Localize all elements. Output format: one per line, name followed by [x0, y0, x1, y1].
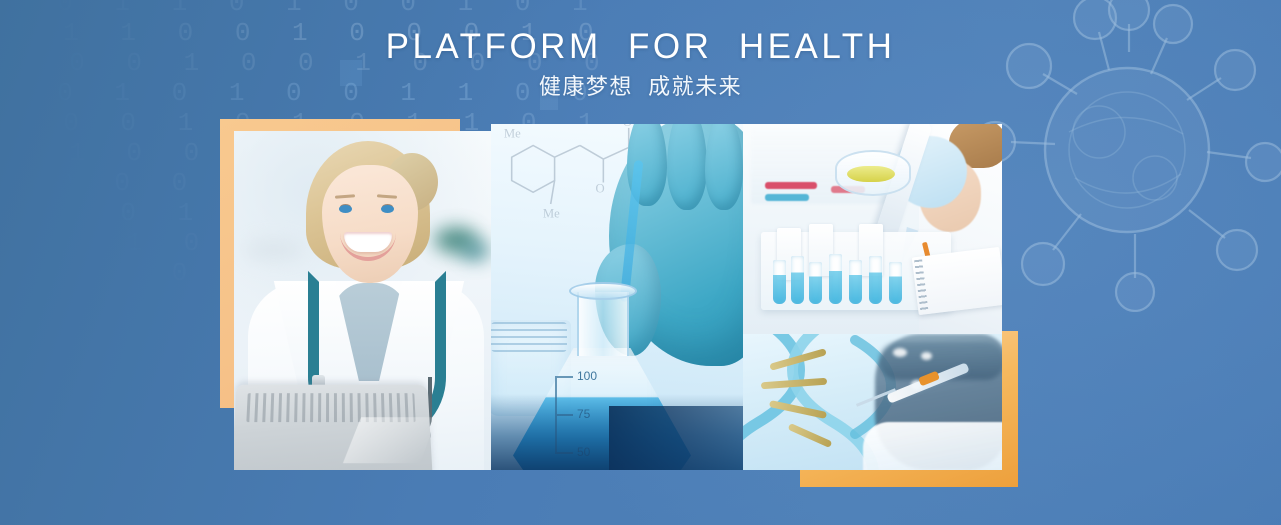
glove-finger [705, 124, 743, 210]
page-subtitle: 健康梦想 成就未来 [0, 71, 1281, 103]
test-tube [791, 256, 804, 304]
svg-text:O: O [623, 124, 632, 129]
page-title: PLATFORM FOR HEALTH [0, 26, 1281, 68]
glove-finger [667, 124, 707, 210]
photo-dna-injection [743, 334, 1002, 470]
svg-text:O: O [596, 181, 605, 195]
blurred-lab-object [244, 239, 304, 261]
test-tube [773, 260, 786, 304]
flask-photo-dark-band [609, 406, 743, 470]
eye-left [339, 205, 352, 213]
test-tube [869, 256, 882, 304]
shelf-color-bar [765, 182, 817, 189]
svg-text:Me: Me [543, 207, 560, 221]
health-platform-banner: 1 0 1 1 0 1 0 0 1 0 1 1 0 0 1 10 1 1 0 0… [0, 0, 1281, 525]
computer-monitor [234, 385, 433, 470]
gloved-arm [863, 422, 1002, 470]
test-tube [849, 260, 862, 304]
photo-lab-pipetting [743, 124, 1002, 334]
photo-flask-pouring: Me Me O O OH 100 75 50 [491, 124, 743, 470]
monitor-sheen [343, 417, 437, 463]
notepad [912, 247, 1002, 315]
graduation-tick [557, 376, 573, 378]
blurred-lab-object [460, 241, 490, 261]
shelf-color-bar [765, 194, 809, 201]
test-tube [809, 262, 822, 304]
photo-smiling-doctor [234, 131, 492, 470]
svg-text:Me: Me [504, 127, 521, 141]
goggle-glare [893, 348, 907, 357]
banner-heading: PLATFORM FOR HEALTH 健康梦想 成就未来 [0, 26, 1281, 103]
test-tube [829, 254, 842, 304]
yellow-sample [847, 166, 895, 182]
graduation-label-100: 100 [577, 369, 597, 383]
eye-right [381, 205, 394, 213]
test-tube [889, 262, 902, 304]
goggle-glare [921, 352, 932, 360]
flask-rim [569, 282, 637, 300]
flask-neck [577, 292, 629, 356]
